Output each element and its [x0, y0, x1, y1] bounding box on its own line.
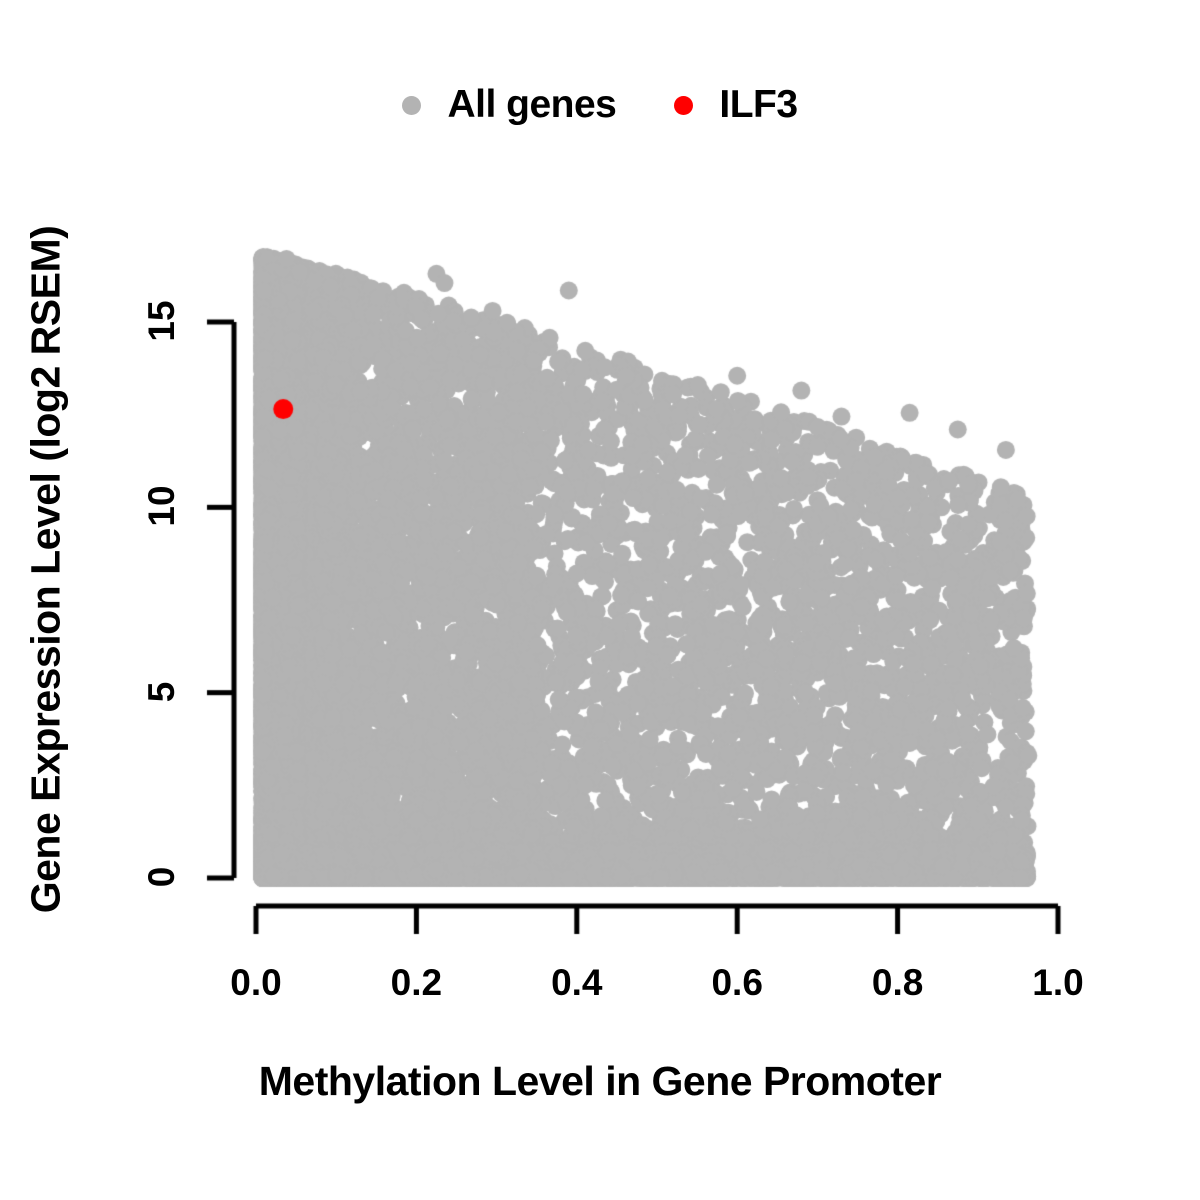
legend-entry-all-genes: All genes: [402, 83, 616, 127]
y-tick-label: 0: [141, 849, 183, 905]
x-axis-title: Methylation Level in Gene Promoter: [0, 1058, 1200, 1105]
scatter-plot-figure: All genes ILF3 Gene Expression Level (lo…: [0, 0, 1200, 1200]
x-tick-label: 0.6: [711, 962, 762, 1004]
y-tick-label: 15: [141, 293, 183, 349]
chart-legend: All genes ILF3: [0, 78, 1200, 132]
y-tick-label: 10: [141, 478, 183, 534]
circle-marker-icon: [402, 96, 421, 115]
legend-entry-ilf3: ILF3: [674, 83, 797, 127]
y-axis-title: Gene Expression Level (log2 RSEM): [23, 140, 70, 1000]
x-tick-label: 0.4: [551, 962, 602, 1004]
x-tick-label: 1.0: [1032, 962, 1083, 1004]
x-tick-label: 0.8: [872, 962, 923, 1004]
y-tick-label: 5: [141, 664, 183, 720]
scatter-plot-canvas: [0, 0, 1200, 1200]
legend-label-all-genes: All genes: [447, 83, 616, 127]
x-tick-label: 0.0: [230, 962, 281, 1004]
circle-marker-icon: [674, 96, 693, 115]
x-tick-label: 0.2: [391, 962, 442, 1004]
legend-label-ilf3: ILF3: [719, 83, 797, 127]
